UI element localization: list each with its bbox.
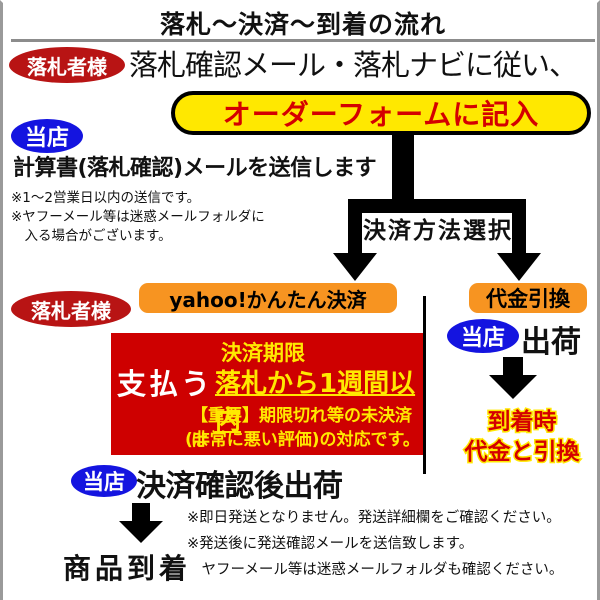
option-cash-on-delivery[interactable]: 代金引換 xyxy=(469,283,587,313)
order-form-box[interactable]: オーダーフォームに記入 xyxy=(171,91,591,135)
page-title: 落札～決済～到着の流れ xyxy=(3,5,600,41)
final-note-3: ヤフーメール等は迷惑メールフォルダも確認ください。 xyxy=(187,561,563,580)
fork-right-arrowhead xyxy=(497,253,541,281)
step2-note-3: 入る場合がございます。 xyxy=(11,227,172,246)
branch-divider xyxy=(423,296,426,474)
badge-bidder-step1: 落札者様 xyxy=(9,47,125,83)
step1-instruction: 落札確認メール・落札ナビに従い、 xyxy=(129,47,577,83)
right-branch-arrowhead xyxy=(489,375,537,399)
title-divider xyxy=(11,39,595,42)
badge-shop-step2: 当店 xyxy=(11,119,83,153)
badge-bidder-left-branch: 落札者様 xyxy=(11,291,131,327)
flowchart-canvas: 落札～決済～到着の流れ 落札者様 落札確認メール・落札ナビに従い、 オーダーフォ… xyxy=(0,0,600,600)
pay-label: 支払う xyxy=(117,361,213,403)
cod-line-1: 到着時 xyxy=(443,407,600,437)
cod-arrival-text: 到着時 代金と引換 xyxy=(443,407,600,467)
warning-line-2: (非常に悪い評価)の対応です。 xyxy=(185,425,420,450)
final-note-1: ※即日発送となりません。発送詳細欄をご確認ください。 xyxy=(187,509,561,528)
ship-label: 出荷 xyxy=(521,317,581,361)
final-arrowhead xyxy=(119,521,163,543)
step2-note-1: ※1～2営業日以内の送信です。 xyxy=(11,189,200,208)
badge-shop-right-branch: 当店 xyxy=(447,319,519,353)
fork-left-stem xyxy=(348,199,362,259)
fork-left-arrowhead xyxy=(333,253,377,281)
final-note-2: ※発送後に発送確認メールを送信致します。 xyxy=(187,535,473,554)
payment-deadline-box: 決済期限 支払う 落札から1週間以内 【重要】期限切れ等の未決済は (非常に悪い… xyxy=(111,333,423,455)
step2-note-2: ※ヤフーメール等は迷惑メールフォルダに xyxy=(11,208,265,227)
final-arrival-label: 商品到着 xyxy=(63,547,191,587)
final-heading: 決済確認後出荷 xyxy=(136,461,343,505)
fork-right-stem xyxy=(512,199,526,259)
fork-label: 決済方法選択 xyxy=(363,211,513,245)
option-yahoo-easy-payment[interactable]: yahoo!かんたん決済 xyxy=(139,283,397,313)
cod-line-2: 代金と引換 xyxy=(443,437,600,467)
step2-heading: 計算書(落札確認)メールを送信します xyxy=(13,155,376,183)
badge-shop-final: 当店 xyxy=(71,465,137,497)
